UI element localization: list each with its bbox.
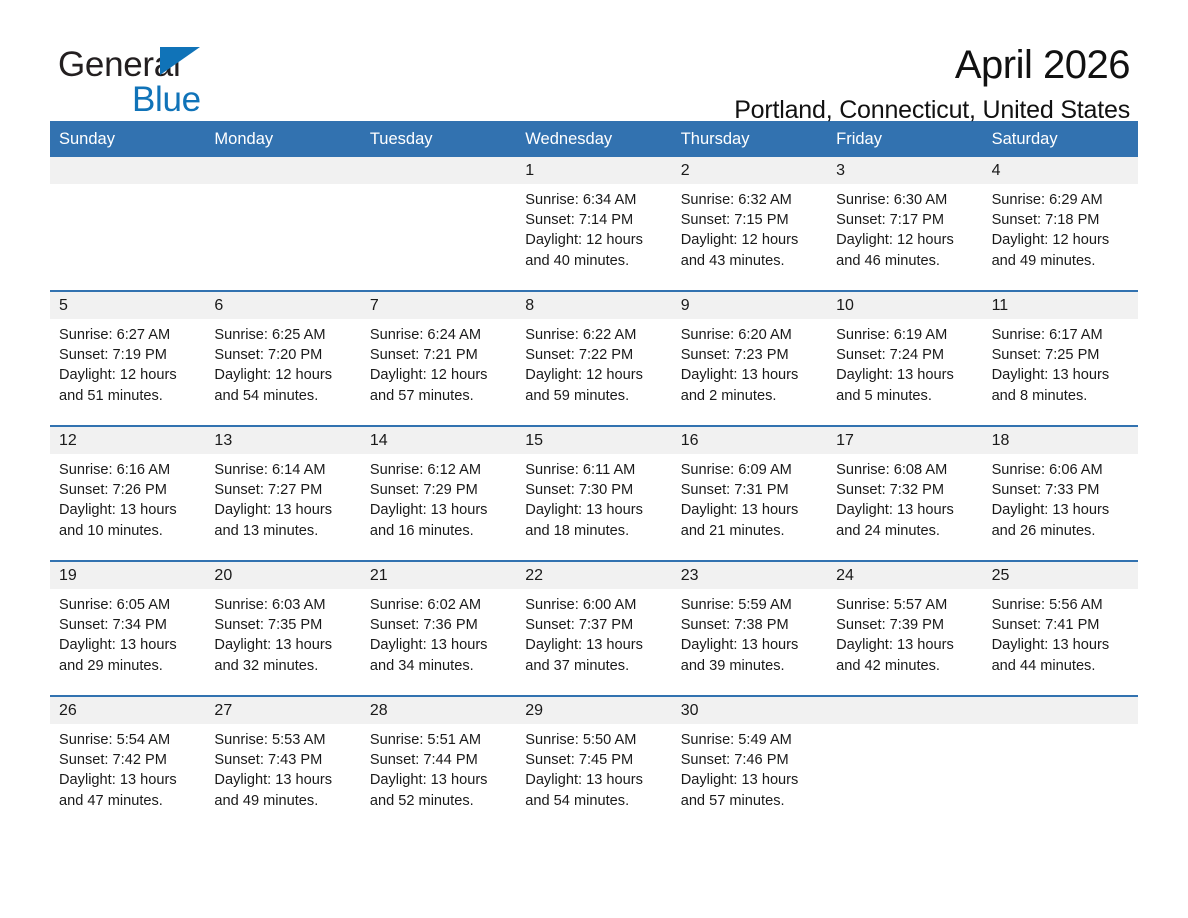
day-details: Sunrise: 6:24 AMSunset: 7:21 PMDaylight:… bbox=[361, 319, 516, 406]
day-detail-line: Sunset: 7:29 PM bbox=[370, 480, 508, 500]
day-number bbox=[205, 157, 360, 184]
day-number: 15 bbox=[516, 427, 671, 454]
day-number: 12 bbox=[50, 427, 205, 454]
day-number: 29 bbox=[516, 697, 671, 724]
day-detail-line: Daylight: 13 hours bbox=[214, 500, 352, 520]
calendar-day-cell[interactable]: 21Sunrise: 6:02 AMSunset: 7:36 PMDayligh… bbox=[361, 562, 516, 695]
day-detail-line: and 16 minutes. bbox=[370, 521, 508, 541]
day-number: 20 bbox=[205, 562, 360, 589]
day-number: 21 bbox=[361, 562, 516, 589]
day-details: Sunrise: 5:53 AMSunset: 7:43 PMDaylight:… bbox=[205, 724, 360, 811]
day-detail-line: Sunset: 7:35 PM bbox=[214, 615, 352, 635]
day-number: 1 bbox=[516, 157, 671, 184]
calendar-week-row: 26Sunrise: 5:54 AMSunset: 7:42 PMDayligh… bbox=[50, 695, 1138, 830]
day-detail-line: Daylight: 13 hours bbox=[59, 770, 197, 790]
day-details: Sunrise: 6:16 AMSunset: 7:26 PMDaylight:… bbox=[50, 454, 205, 541]
day-details: Sunrise: 6:00 AMSunset: 7:37 PMDaylight:… bbox=[516, 589, 671, 676]
day-detail-line: Sunset: 7:34 PM bbox=[59, 615, 197, 635]
day-detail-line: and 49 minutes. bbox=[992, 251, 1130, 271]
day-detail-line: Sunset: 7:15 PM bbox=[681, 210, 819, 230]
day-details: Sunrise: 6:32 AMSunset: 7:15 PMDaylight:… bbox=[672, 184, 827, 271]
day-detail-line: Sunset: 7:43 PM bbox=[214, 750, 352, 770]
day-detail-line: Sunset: 7:46 PM bbox=[681, 750, 819, 770]
day-detail-line: Sunrise: 6:27 AM bbox=[59, 325, 197, 345]
calendar-day-cell-empty bbox=[50, 157, 205, 290]
day-detail-line: Sunrise: 6:03 AM bbox=[214, 595, 352, 615]
day-number: 22 bbox=[516, 562, 671, 589]
calendar-day-cell[interactable]: 1Sunrise: 6:34 AMSunset: 7:14 PMDaylight… bbox=[516, 157, 671, 290]
day-number: 28 bbox=[361, 697, 516, 724]
day-number bbox=[827, 697, 982, 724]
day-detail-line: Sunrise: 6:00 AM bbox=[525, 595, 663, 615]
day-detail-line: and 26 minutes. bbox=[992, 521, 1130, 541]
calendar-day-cell[interactable]: 4Sunrise: 6:29 AMSunset: 7:18 PMDaylight… bbox=[983, 157, 1138, 290]
calendar-day-cell-empty bbox=[205, 157, 360, 290]
day-detail-line: Daylight: 13 hours bbox=[681, 500, 819, 520]
day-details: Sunrise: 6:06 AMSunset: 7:33 PMDaylight:… bbox=[983, 454, 1138, 541]
day-detail-line: and 47 minutes. bbox=[59, 791, 197, 811]
day-details: Sunrise: 6:17 AMSunset: 7:25 PMDaylight:… bbox=[983, 319, 1138, 406]
calendar-day-cell[interactable]: 26Sunrise: 5:54 AMSunset: 7:42 PMDayligh… bbox=[50, 697, 205, 830]
day-detail-line: Sunrise: 6:09 AM bbox=[681, 460, 819, 480]
calendar-day-cell[interactable]: 6Sunrise: 6:25 AMSunset: 7:20 PMDaylight… bbox=[205, 292, 360, 425]
calendar-week-row: 1Sunrise: 6:34 AMSunset: 7:14 PMDaylight… bbox=[50, 157, 1138, 290]
day-detail-line: and 52 minutes. bbox=[370, 791, 508, 811]
weekday-header-saturday: Saturday bbox=[983, 121, 1138, 157]
day-detail-line: Daylight: 13 hours bbox=[681, 365, 819, 385]
day-number: 18 bbox=[983, 427, 1138, 454]
day-details: Sunrise: 6:29 AMSunset: 7:18 PMDaylight:… bbox=[983, 184, 1138, 271]
calendar-day-cell[interactable]: 2Sunrise: 6:32 AMSunset: 7:15 PMDaylight… bbox=[672, 157, 827, 290]
calendar-day-cell[interactable]: 9Sunrise: 6:20 AMSunset: 7:23 PMDaylight… bbox=[672, 292, 827, 425]
calendar-day-cell[interactable]: 5Sunrise: 6:27 AMSunset: 7:19 PMDaylight… bbox=[50, 292, 205, 425]
calendar-day-cell[interactable]: 7Sunrise: 6:24 AMSunset: 7:21 PMDaylight… bbox=[361, 292, 516, 425]
weekday-header-friday: Friday bbox=[827, 121, 982, 157]
day-detail-line: Daylight: 12 hours bbox=[370, 365, 508, 385]
weekday-header-row: SundayMondayTuesdayWednesdayThursdayFrid… bbox=[50, 121, 1138, 157]
day-detail-line: Sunrise: 6:14 AM bbox=[214, 460, 352, 480]
day-number bbox=[50, 157, 205, 184]
calendar-day-cell[interactable]: 12Sunrise: 6:16 AMSunset: 7:26 PMDayligh… bbox=[50, 427, 205, 560]
day-detail-line: and 8 minutes. bbox=[992, 386, 1130, 406]
day-details: Sunrise: 6:25 AMSunset: 7:20 PMDaylight:… bbox=[205, 319, 360, 406]
calendar-day-cell[interactable]: 10Sunrise: 6:19 AMSunset: 7:24 PMDayligh… bbox=[827, 292, 982, 425]
day-detail-line: and 10 minutes. bbox=[59, 521, 197, 541]
day-details: Sunrise: 5:56 AMSunset: 7:41 PMDaylight:… bbox=[983, 589, 1138, 676]
brand-name-blue: Blue bbox=[132, 82, 378, 118]
day-detail-line: Daylight: 12 hours bbox=[214, 365, 352, 385]
day-detail-line: Sunset: 7:41 PM bbox=[992, 615, 1130, 635]
day-details: Sunrise: 5:49 AMSunset: 7:46 PMDaylight:… bbox=[672, 724, 827, 811]
day-number: 25 bbox=[983, 562, 1138, 589]
day-detail-line: Sunrise: 5:54 AM bbox=[59, 730, 197, 750]
day-detail-line: and 32 minutes. bbox=[214, 656, 352, 676]
calendar-day-cell[interactable]: 11Sunrise: 6:17 AMSunset: 7:25 PMDayligh… bbox=[983, 292, 1138, 425]
day-details: Sunrise: 6:19 AMSunset: 7:24 PMDaylight:… bbox=[827, 319, 982, 406]
day-detail-line: and 57 minutes. bbox=[370, 386, 508, 406]
day-number: 4 bbox=[983, 157, 1138, 184]
day-details: Sunrise: 6:08 AMSunset: 7:32 PMDaylight:… bbox=[827, 454, 982, 541]
calendar-day-cell[interactable]: 19Sunrise: 6:05 AMSunset: 7:34 PMDayligh… bbox=[50, 562, 205, 695]
day-number: 11 bbox=[983, 292, 1138, 319]
day-details: Sunrise: 6:22 AMSunset: 7:22 PMDaylight:… bbox=[516, 319, 671, 406]
day-detail-line: and 54 minutes. bbox=[525, 791, 663, 811]
day-detail-line: Daylight: 13 hours bbox=[836, 500, 974, 520]
day-detail-line: Sunrise: 6:29 AM bbox=[992, 190, 1130, 210]
day-number: 24 bbox=[827, 562, 982, 589]
calendar-day-cell[interactable]: 15Sunrise: 6:11 AMSunset: 7:30 PMDayligh… bbox=[516, 427, 671, 560]
day-detail-line: Sunset: 7:45 PM bbox=[525, 750, 663, 770]
day-detail-line: Sunset: 7:42 PM bbox=[59, 750, 197, 770]
page-header: General Blue April 2026 Portland, Connec… bbox=[50, 0, 1138, 112]
calendar-day-cell-empty bbox=[827, 697, 982, 830]
day-detail-line: Daylight: 12 hours bbox=[836, 230, 974, 250]
day-detail-line: Sunrise: 5:49 AM bbox=[681, 730, 819, 750]
day-details: Sunrise: 6:20 AMSunset: 7:23 PMDaylight:… bbox=[672, 319, 827, 406]
day-detail-line: Daylight: 13 hours bbox=[59, 500, 197, 520]
day-details: Sunrise: 5:54 AMSunset: 7:42 PMDaylight:… bbox=[50, 724, 205, 811]
day-detail-line: Sunset: 7:22 PM bbox=[525, 345, 663, 365]
day-detail-line: and 59 minutes. bbox=[525, 386, 663, 406]
day-detail-line: and 29 minutes. bbox=[59, 656, 197, 676]
day-details: Sunrise: 6:09 AMSunset: 7:31 PMDaylight:… bbox=[672, 454, 827, 541]
day-detail-line: Sunrise: 6:05 AM bbox=[59, 595, 197, 615]
calendar-day-cell[interactable]: 14Sunrise: 6:12 AMSunset: 7:29 PMDayligh… bbox=[361, 427, 516, 560]
calendar-day-cell[interactable]: 28Sunrise: 5:51 AMSunset: 7:44 PMDayligh… bbox=[361, 697, 516, 830]
day-detail-line: Daylight: 13 hours bbox=[992, 365, 1130, 385]
calendar-day-cell[interactable]: 8Sunrise: 6:22 AMSunset: 7:22 PMDaylight… bbox=[516, 292, 671, 425]
day-detail-line: Sunset: 7:33 PM bbox=[992, 480, 1130, 500]
day-detail-line: Daylight: 13 hours bbox=[681, 635, 819, 655]
day-detail-line: Daylight: 13 hours bbox=[370, 770, 508, 790]
day-detail-line: Sunset: 7:31 PM bbox=[681, 480, 819, 500]
day-detail-line: Sunrise: 6:08 AM bbox=[836, 460, 974, 480]
day-detail-line: and 5 minutes. bbox=[836, 386, 974, 406]
day-details: Sunrise: 5:51 AMSunset: 7:44 PMDaylight:… bbox=[361, 724, 516, 811]
day-detail-line: Sunrise: 6:02 AM bbox=[370, 595, 508, 615]
calendar-day-cell[interactable]: 24Sunrise: 5:57 AMSunset: 7:39 PMDayligh… bbox=[827, 562, 982, 695]
day-detail-line: Sunset: 7:27 PM bbox=[214, 480, 352, 500]
day-detail-line: Daylight: 13 hours bbox=[59, 635, 197, 655]
day-details: Sunrise: 6:12 AMSunset: 7:29 PMDaylight:… bbox=[361, 454, 516, 541]
day-detail-line: Sunrise: 6:30 AM bbox=[836, 190, 974, 210]
day-detail-line: Sunrise: 6:12 AM bbox=[370, 460, 508, 480]
day-detail-line: Sunrise: 6:06 AM bbox=[992, 460, 1130, 480]
day-detail-line: Daylight: 13 hours bbox=[992, 500, 1130, 520]
day-number: 5 bbox=[50, 292, 205, 319]
day-detail-line: Daylight: 12 hours bbox=[525, 365, 663, 385]
calendar-day-cell[interactable]: 18Sunrise: 6:06 AMSunset: 7:33 PMDayligh… bbox=[983, 427, 1138, 560]
day-detail-line: and 39 minutes. bbox=[681, 656, 819, 676]
day-details: Sunrise: 6:11 AMSunset: 7:30 PMDaylight:… bbox=[516, 454, 671, 541]
day-detail-line: and 46 minutes. bbox=[836, 251, 974, 271]
day-detail-line: Sunrise: 6:16 AM bbox=[59, 460, 197, 480]
day-detail-line: Sunrise: 5:50 AM bbox=[525, 730, 663, 750]
day-detail-line: Sunset: 7:39 PM bbox=[836, 615, 974, 635]
day-detail-line: and 24 minutes. bbox=[836, 521, 974, 541]
day-detail-line: Sunrise: 6:25 AM bbox=[214, 325, 352, 345]
day-detail-line: Daylight: 12 hours bbox=[681, 230, 819, 250]
triangle-logo-icon bbox=[160, 47, 200, 75]
weekday-header-sunday: Sunday bbox=[50, 121, 205, 157]
calendar-day-cell-empty bbox=[983, 697, 1138, 830]
day-details: Sunrise: 6:05 AMSunset: 7:34 PMDaylight:… bbox=[50, 589, 205, 676]
day-detail-line: Sunrise: 6:32 AM bbox=[681, 190, 819, 210]
calendar-week-row: 19Sunrise: 6:05 AMSunset: 7:34 PMDayligh… bbox=[50, 560, 1138, 695]
calendar-day-cell[interactable]: 16Sunrise: 6:09 AMSunset: 7:31 PMDayligh… bbox=[672, 427, 827, 560]
day-detail-line: and 54 minutes. bbox=[214, 386, 352, 406]
calendar-day-cell[interactable]: 13Sunrise: 6:14 AMSunset: 7:27 PMDayligh… bbox=[205, 427, 360, 560]
day-detail-line: Sunrise: 6:22 AM bbox=[525, 325, 663, 345]
brand-name-general: General bbox=[58, 46, 378, 84]
day-detail-line: Daylight: 13 hours bbox=[525, 635, 663, 655]
calendar-day-cell[interactable]: 20Sunrise: 6:03 AMSunset: 7:35 PMDayligh… bbox=[205, 562, 360, 695]
day-detail-line: Sunset: 7:32 PM bbox=[836, 480, 974, 500]
day-number: 30 bbox=[672, 697, 827, 724]
day-number: 6 bbox=[205, 292, 360, 319]
calendar-day-cell[interactable]: 27Sunrise: 5:53 AMSunset: 7:43 PMDayligh… bbox=[205, 697, 360, 830]
day-detail-line: and 37 minutes. bbox=[525, 656, 663, 676]
day-detail-line: Daylight: 13 hours bbox=[992, 635, 1130, 655]
day-detail-line: and 13 minutes. bbox=[214, 521, 352, 541]
day-detail-line: Sunset: 7:26 PM bbox=[59, 480, 197, 500]
day-detail-line: Daylight: 13 hours bbox=[214, 770, 352, 790]
day-number: 19 bbox=[50, 562, 205, 589]
calendar-page: General Blue April 2026 Portland, Connec… bbox=[0, 0, 1188, 918]
day-detail-line: Sunrise: 5:59 AM bbox=[681, 595, 819, 615]
day-details: Sunrise: 6:30 AMSunset: 7:17 PMDaylight:… bbox=[827, 184, 982, 271]
calendar-day-cell[interactable]: 30Sunrise: 5:49 AMSunset: 7:46 PMDayligh… bbox=[672, 697, 827, 830]
day-detail-line: Sunset: 7:23 PM bbox=[681, 345, 819, 365]
day-detail-line: and 18 minutes. bbox=[525, 521, 663, 541]
day-detail-line: Daylight: 13 hours bbox=[681, 770, 819, 790]
day-number bbox=[983, 697, 1138, 724]
day-number: 17 bbox=[827, 427, 982, 454]
day-detail-line: Sunrise: 5:56 AM bbox=[992, 595, 1130, 615]
day-number: 23 bbox=[672, 562, 827, 589]
day-detail-line: Sunset: 7:17 PM bbox=[836, 210, 974, 230]
day-number: 8 bbox=[516, 292, 671, 319]
day-detail-line: Sunrise: 5:53 AM bbox=[214, 730, 352, 750]
day-detail-line: Sunset: 7:19 PM bbox=[59, 345, 197, 365]
day-details: Sunrise: 5:59 AMSunset: 7:38 PMDaylight:… bbox=[672, 589, 827, 676]
day-detail-line: Daylight: 12 hours bbox=[525, 230, 663, 250]
calendar-weeks: 1Sunrise: 6:34 AMSunset: 7:14 PMDaylight… bbox=[50, 157, 1138, 830]
day-details: Sunrise: 5:50 AMSunset: 7:45 PMDaylight:… bbox=[516, 724, 671, 811]
calendar-week-row: 5Sunrise: 6:27 AMSunset: 7:19 PMDaylight… bbox=[50, 290, 1138, 425]
day-detail-line: and 21 minutes. bbox=[681, 521, 819, 541]
day-detail-line: Sunrise: 6:11 AM bbox=[525, 460, 663, 480]
day-detail-line: Sunrise: 6:24 AM bbox=[370, 325, 508, 345]
weekday-header-thursday: Thursday bbox=[672, 121, 827, 157]
calendar-day-cell[interactable]: 29Sunrise: 5:50 AMSunset: 7:45 PMDayligh… bbox=[516, 697, 671, 830]
day-detail-line: Sunset: 7:37 PM bbox=[525, 615, 663, 635]
day-number: 9 bbox=[672, 292, 827, 319]
day-detail-line: Sunrise: 5:51 AM bbox=[370, 730, 508, 750]
day-detail-line: and 40 minutes. bbox=[525, 251, 663, 271]
day-detail-line: Sunset: 7:30 PM bbox=[525, 480, 663, 500]
calendar-day-cell[interactable]: 22Sunrise: 6:00 AMSunset: 7:37 PMDayligh… bbox=[516, 562, 671, 695]
day-detail-line: Daylight: 13 hours bbox=[836, 635, 974, 655]
day-number: 7 bbox=[361, 292, 516, 319]
day-number: 14 bbox=[361, 427, 516, 454]
day-detail-line: and 34 minutes. bbox=[370, 656, 508, 676]
day-detail-line: Sunrise: 5:57 AM bbox=[836, 595, 974, 615]
day-details: Sunrise: 6:03 AMSunset: 7:35 PMDaylight:… bbox=[205, 589, 360, 676]
day-number: 16 bbox=[672, 427, 827, 454]
day-detail-line: Daylight: 12 hours bbox=[992, 230, 1130, 250]
day-detail-line: Daylight: 13 hours bbox=[370, 500, 508, 520]
day-detail-line: Daylight: 13 hours bbox=[525, 500, 663, 520]
day-number: 2 bbox=[672, 157, 827, 184]
day-detail-line: Sunset: 7:24 PM bbox=[836, 345, 974, 365]
calendar-day-cell[interactable]: 25Sunrise: 5:56 AMSunset: 7:41 PMDayligh… bbox=[983, 562, 1138, 695]
calendar-grid: SundayMondayTuesdayWednesdayThursdayFrid… bbox=[50, 121, 1138, 830]
day-details: Sunrise: 6:14 AMSunset: 7:27 PMDaylight:… bbox=[205, 454, 360, 541]
day-details: Sunrise: 6:27 AMSunset: 7:19 PMDaylight:… bbox=[50, 319, 205, 406]
day-number: 13 bbox=[205, 427, 360, 454]
day-detail-line: and 51 minutes. bbox=[59, 386, 197, 406]
calendar-day-cell[interactable]: 3Sunrise: 6:30 AMSunset: 7:17 PMDaylight… bbox=[827, 157, 982, 290]
day-details: Sunrise: 6:34 AMSunset: 7:14 PMDaylight:… bbox=[516, 184, 671, 271]
day-number bbox=[361, 157, 516, 184]
day-detail-line: and 43 minutes. bbox=[681, 251, 819, 271]
day-detail-line: Daylight: 12 hours bbox=[59, 365, 197, 385]
day-detail-line: and 2 minutes. bbox=[681, 386, 819, 406]
day-detail-line: Sunset: 7:25 PM bbox=[992, 345, 1130, 365]
day-detail-line: and 49 minutes. bbox=[214, 791, 352, 811]
day-detail-line: Sunrise: 6:20 AM bbox=[681, 325, 819, 345]
day-detail-line: Sunset: 7:44 PM bbox=[370, 750, 508, 770]
day-number: 3 bbox=[827, 157, 982, 184]
calendar-week-row: 12Sunrise: 6:16 AMSunset: 7:26 PMDayligh… bbox=[50, 425, 1138, 560]
day-detail-line: Daylight: 13 hours bbox=[370, 635, 508, 655]
calendar-day-cell[interactable]: 17Sunrise: 6:08 AMSunset: 7:32 PMDayligh… bbox=[827, 427, 982, 560]
day-number: 27 bbox=[205, 697, 360, 724]
calendar-day-cell[interactable]: 23Sunrise: 5:59 AMSunset: 7:38 PMDayligh… bbox=[672, 562, 827, 695]
day-detail-line: Daylight: 13 hours bbox=[836, 365, 974, 385]
day-detail-line: and 42 minutes. bbox=[836, 656, 974, 676]
day-details: Sunrise: 6:02 AMSunset: 7:36 PMDaylight:… bbox=[361, 589, 516, 676]
day-detail-line: Daylight: 13 hours bbox=[214, 635, 352, 655]
day-number: 10 bbox=[827, 292, 982, 319]
day-detail-line: and 44 minutes. bbox=[992, 656, 1130, 676]
weekday-header-wednesday: Wednesday bbox=[516, 121, 671, 157]
day-detail-line: Sunset: 7:36 PM bbox=[370, 615, 508, 635]
day-detail-line: Sunset: 7:38 PM bbox=[681, 615, 819, 635]
day-details: Sunrise: 5:57 AMSunset: 7:39 PMDaylight:… bbox=[827, 589, 982, 676]
brand-logo[interactable]: General Blue bbox=[58, 46, 378, 126]
day-number: 26 bbox=[50, 697, 205, 724]
weekday-header-monday: Monday bbox=[205, 121, 360, 157]
day-detail-line: Sunset: 7:21 PM bbox=[370, 345, 508, 365]
calendar-day-cell-empty bbox=[361, 157, 516, 290]
day-detail-line: and 57 minutes. bbox=[681, 791, 819, 811]
day-detail-line: Sunset: 7:14 PM bbox=[525, 210, 663, 230]
day-detail-line: Sunrise: 6:17 AM bbox=[992, 325, 1130, 345]
day-detail-line: Sunrise: 6:19 AM bbox=[836, 325, 974, 345]
day-detail-line: Sunset: 7:18 PM bbox=[992, 210, 1130, 230]
day-detail-line: Sunset: 7:20 PM bbox=[214, 345, 352, 365]
day-detail-line: Sunrise: 6:34 AM bbox=[525, 190, 663, 210]
day-detail-line: Daylight: 13 hours bbox=[525, 770, 663, 790]
weekday-header-tuesday: Tuesday bbox=[361, 121, 516, 157]
